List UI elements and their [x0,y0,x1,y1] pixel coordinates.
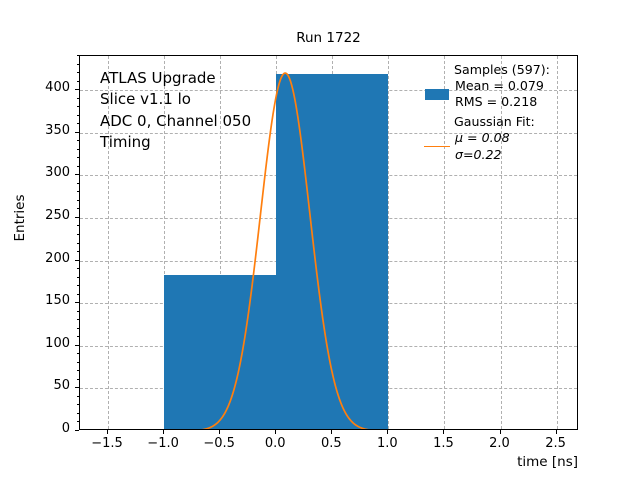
x-tick-mark [387,430,388,434]
legend-color-line [424,146,450,147]
y-tick-label: 400 [20,80,70,95]
y-tick-label: 200 [20,251,70,266]
legend-fit-heading: Gaussian Fit: [454,114,574,130]
figure-canvas: Run 1722 Entries time [ns] −1.5−1.0−0.50… [0,0,640,480]
x-tick-label: −0.5 [189,436,249,451]
y-tick-mark [75,430,79,431]
y-tick-label: 50 [20,378,70,393]
chart-title: Run 1722 [79,30,578,46]
x-tick-mark [107,430,108,434]
legend-fit-stats: μ = 0.08 σ=0.22 [455,130,510,162]
legend-entry-histogram[interactable]: Mean = 0.079 RMS = 0.218 [424,78,574,110]
x-tick-label: −1.0 [133,436,193,451]
x-tick-mark [556,430,557,434]
x-tick-label: 2.5 [526,436,586,451]
annotation-line-3: ADC 0, Channel 050 [100,112,251,130]
y-tick-label: 250 [20,208,70,223]
y-tick-label: 150 [20,293,70,308]
x-tick-mark [331,430,332,434]
y-tick-label: 300 [20,165,70,180]
legend-mu: μ = 0.08 [455,130,510,146]
x-tick-label: 2.0 [470,436,530,451]
legend-rms: RMS = 0.218 [455,94,544,110]
annotation-line-1: ATLAS Upgrade [100,69,216,87]
plot-annotation: ATLAS Upgrade Slice v1.1 lo ADC 0, Chann… [100,68,251,153]
x-tick-label: 1.5 [413,436,473,451]
annotation-line-4: Timing [100,133,151,151]
x-tick-mark [443,430,444,434]
x-tick-label: 0.0 [245,436,305,451]
x-tick-label: 1.0 [357,436,417,451]
x-tick-mark [219,430,220,434]
chart-legend: Samples (597): Mean = 0.079 RMS = 0.218 … [424,62,574,163]
annotation-line-2: Slice v1.1 lo [100,90,191,108]
y-tick-label: 0 [20,421,70,436]
x-tick-mark [275,430,276,434]
x-tick-label: −1.5 [77,436,137,451]
legend-entry-fit[interactable]: μ = 0.08 σ=0.22 [424,130,574,162]
legend-samples-heading: Samples (597): [454,62,574,78]
legend-mean: Mean = 0.079 [455,78,544,94]
legend-swatch-histogram [424,87,450,101]
legend-sigma: σ=0.22 [455,147,510,163]
x-tick-mark [163,430,164,434]
legend-histogram-stats: Mean = 0.079 RMS = 0.218 [455,78,544,110]
x-axis-label: time [ns] [398,454,578,470]
y-tick-label: 100 [20,336,70,351]
x-tick-label: 0.5 [301,436,361,451]
legend-swatch-fit [424,140,450,154]
legend-color-patch [425,89,449,100]
x-tick-mark [500,430,501,434]
y-tick-label: 350 [20,123,70,138]
